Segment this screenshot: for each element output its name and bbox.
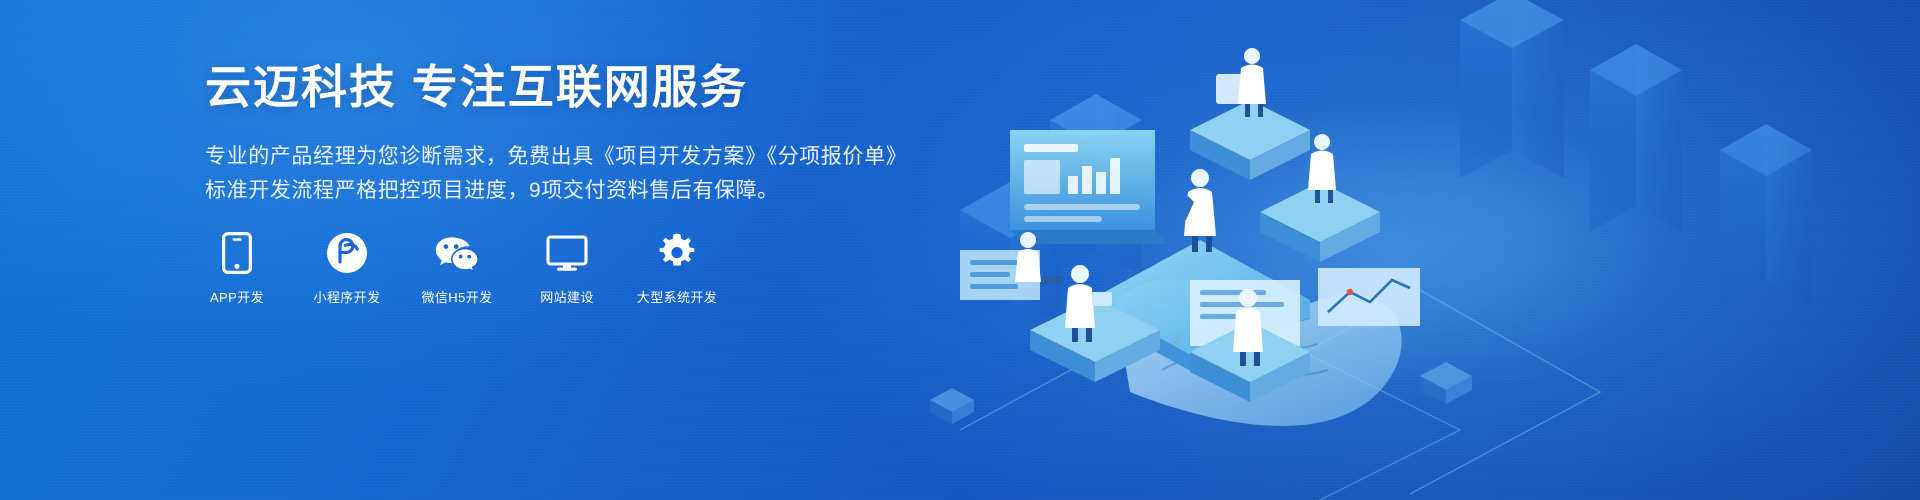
chart-card [1318, 268, 1420, 326]
service-label: 网站建设 [540, 287, 594, 306]
service-label: 微信H5开发 [421, 287, 492, 306]
service-label: 小程序开发 [313, 287, 380, 306]
mobile-phone-icon [222, 232, 252, 274]
mini-program-icon [326, 232, 368, 274]
service-label: 大型系统开发 [637, 287, 717, 306]
service-item-app[interactable]: APP开发 [200, 232, 274, 306]
service-label: APP开发 [210, 287, 264, 306]
person-top-center [1181, 169, 1216, 252]
hero-subtitle-line-2: 标准开发流程严格把控项目进度，9项交付资料售后有保障。 [205, 174, 965, 208]
hero-banner: 云迈科技 专注互联网服务 专业的产品经理为您诊断需求，免费出具《项目开发方案》《… [0, 0, 1920, 500]
monitor-icon [546, 232, 588, 274]
isometric-illustration [900, 0, 1920, 500]
service-item-mini-program[interactable]: 小程序开发 [310, 232, 384, 306]
service-item-website[interactable]: 网站建设 [530, 232, 604, 306]
hero-subtitle-line-1: 专业的产品经理为您诊断需求，免费出具《项目开发方案》《分项报价单》 [205, 140, 965, 174]
service-item-wechat-h5[interactable]: 微信H5开发 [420, 232, 494, 306]
service-item-large-system[interactable]: 大型系统开发 [640, 232, 714, 306]
page-title: 云迈科技 专注互联网服务 [205, 62, 965, 114]
gear-icon [656, 232, 698, 274]
service-list: APP开发 小程序开发 [200, 232, 714, 306]
hero-copy: 云迈科技 专注互联网服务 专业的产品经理为您诊断需求，免费出具《项目开发方案》《… [205, 62, 965, 208]
wechat-icon [434, 232, 480, 274]
dashboard-screen [1010, 130, 1168, 244]
hero-subtitle: 专业的产品经理为您诊断需求，免费出具《项目开发方案》《分项报价单》 标准开发流程… [205, 140, 965, 208]
